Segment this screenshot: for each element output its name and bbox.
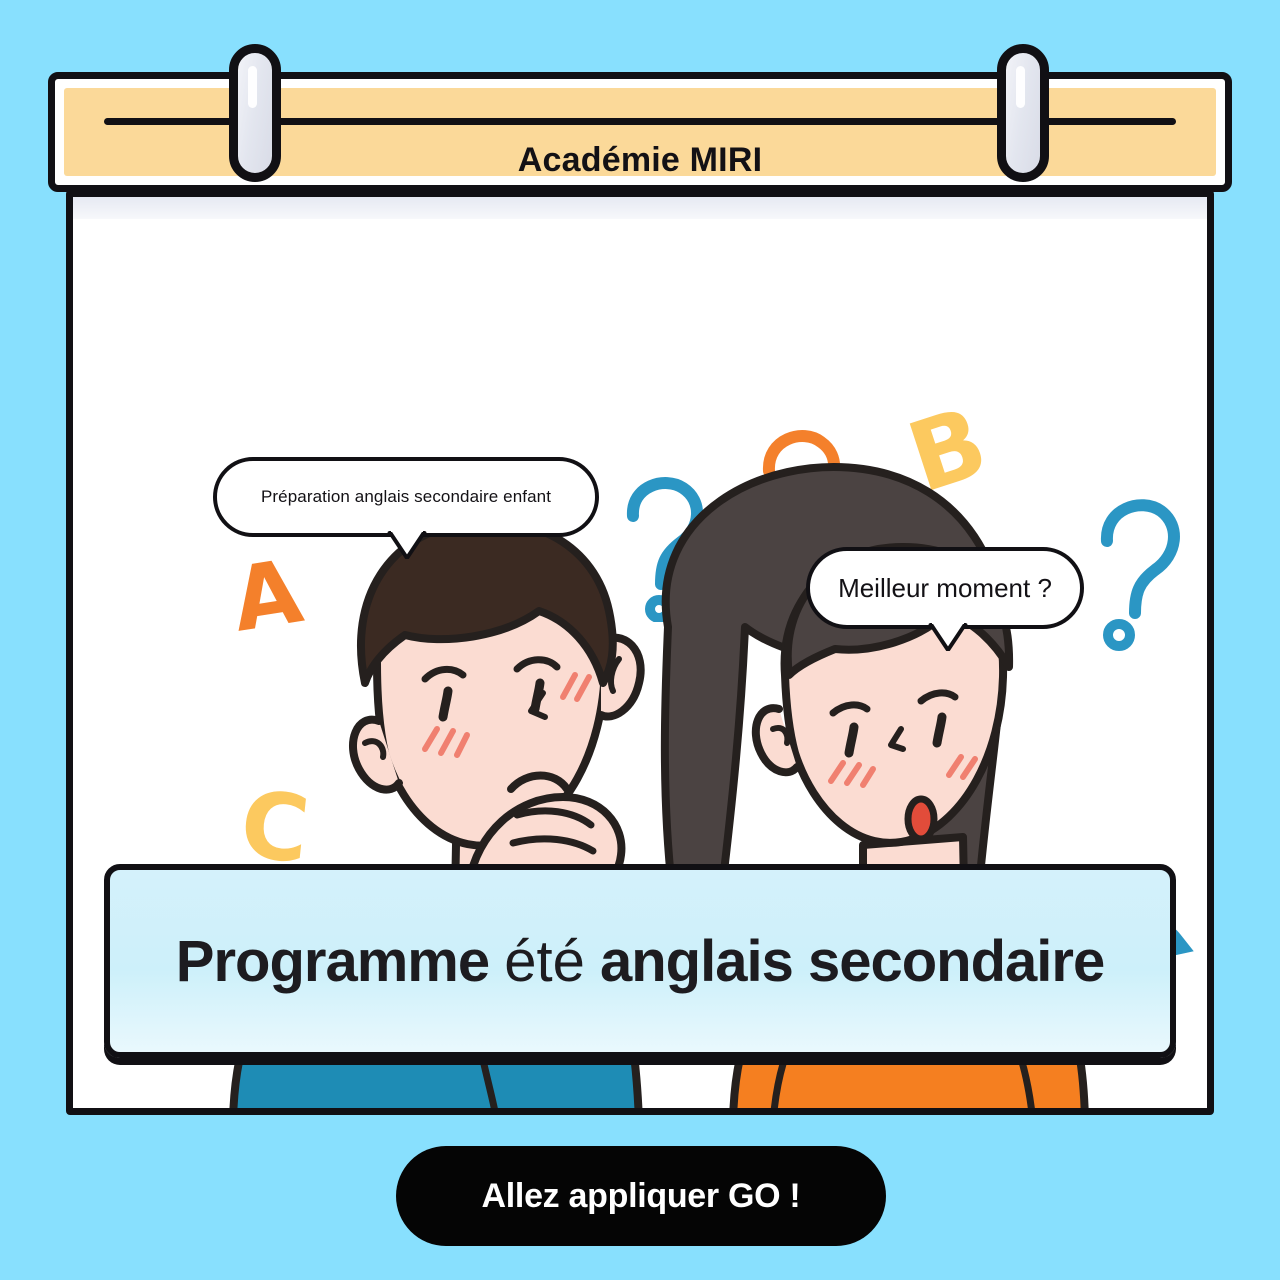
headline-part1: Programme — [176, 929, 504, 994]
speech-bubble-preparation-text: Préparation anglais secondaire enfant — [261, 487, 551, 507]
clip-left — [229, 44, 281, 182]
headline-text: Programme été anglais secondaire — [176, 928, 1104, 995]
speech-bubble-preparation: Préparation anglais secondaire enfant — [213, 457, 599, 537]
cta-button[interactable]: Allez appliquer GO ! — [396, 1146, 886, 1246]
speech-bubble-moment-text: Meilleur moment ? — [838, 573, 1052, 604]
title-banner: Académie MIRI — [48, 72, 1232, 192]
speech-bubble-tail-icon — [387, 531, 427, 559]
headline-emphasis: été — [504, 929, 585, 994]
headline-part2: anglais secondaire — [585, 929, 1104, 994]
speech-bubble-moment: Meilleur moment ? — [806, 547, 1084, 629]
clip-right-highlight — [1016, 66, 1025, 108]
speech-bubble-tail-icon — [928, 623, 968, 651]
clip-right — [997, 44, 1049, 182]
cta-button-label: Allez appliquer GO ! — [482, 1177, 801, 1216]
poster-canvas: A C B R — [0, 0, 1280, 1280]
headline-banner: Programme été anglais secondaire — [104, 864, 1176, 1058]
clip-left-highlight — [248, 66, 257, 108]
